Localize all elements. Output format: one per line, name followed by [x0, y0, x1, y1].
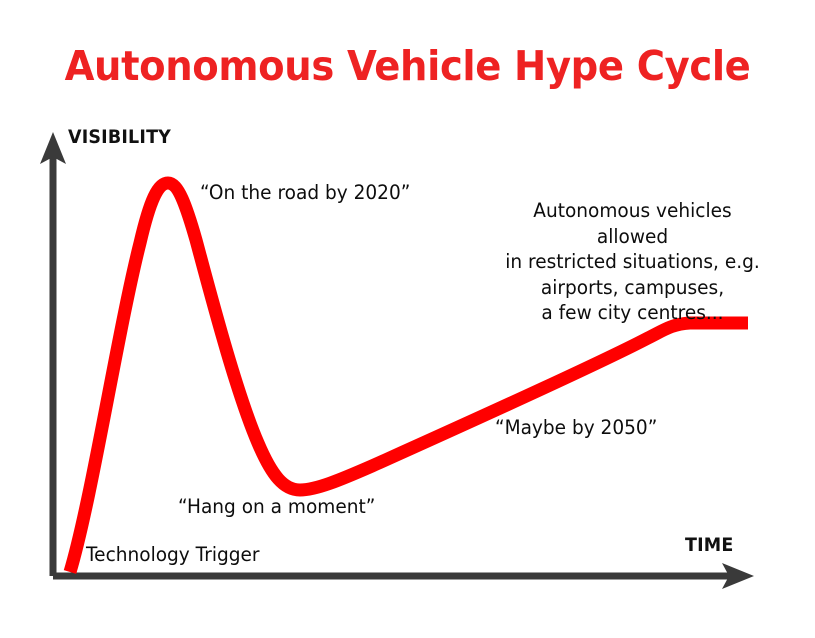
annotation-plateau: Autonomous vehicles allowed in restricte…: [502, 198, 763, 326]
annotation-peak: “On the road by 2020”: [200, 180, 410, 206]
annotation-slope: “Maybe by 2050”: [495, 415, 657, 441]
annotation-plateau-line: a few city centres...: [502, 300, 763, 326]
annotation-trough: “Hang on a moment”: [178, 494, 375, 520]
annotation-technology-trigger: Technology Trigger: [86, 542, 260, 568]
annotation-plateau-line: airports, campuses,: [502, 275, 763, 301]
y-axis-title: VISIBILITY: [68, 126, 171, 148]
annotation-plateau-line: Autonomous vehicles allowed: [502, 198, 763, 249]
hype-cycle-figure: Autonomous Vehicle Hype Cycle VISIBILITY…: [0, 0, 815, 638]
annotation-plateau-line: in restricted situations, e.g.: [502, 249, 763, 275]
x-axis-title: TIME: [685, 534, 734, 556]
